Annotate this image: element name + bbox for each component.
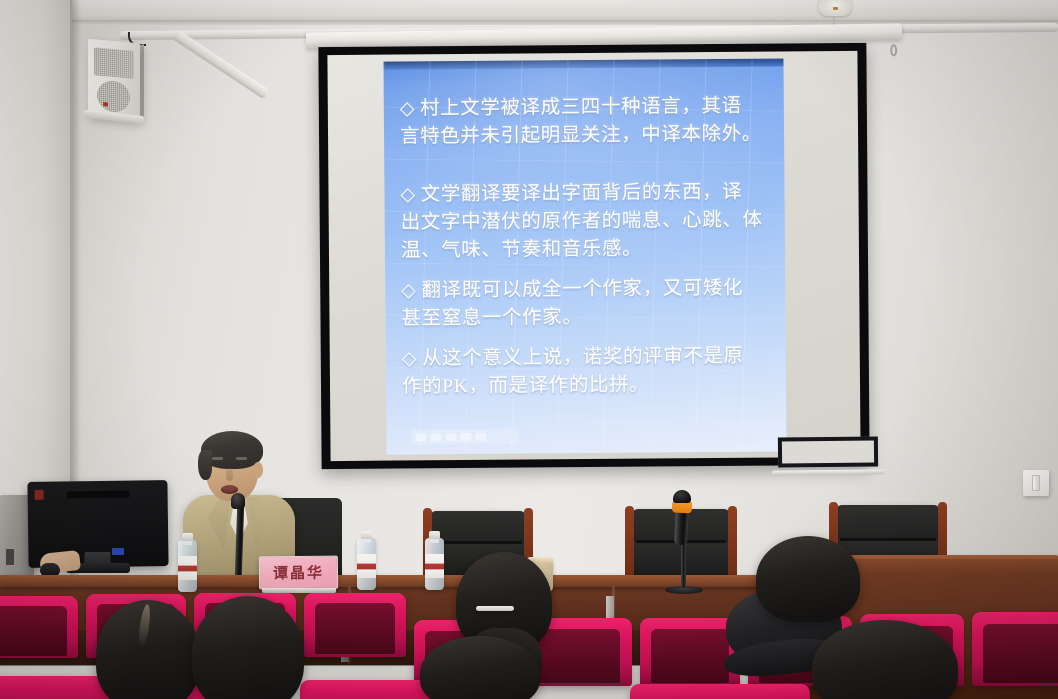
water-bottle-3[interactable] xyxy=(425,538,444,590)
slide-paragraph-1-line-2: 言特色并未引起明显关注，中译本除外。 xyxy=(400,124,762,148)
presenter-eyebrow-left xyxy=(212,457,223,460)
monitor-vent-icon xyxy=(67,491,130,499)
slide-paragraph-1: ◇村上文学被译成三四十种语言，其语 言特色并未引起明显关注，中译本除外。 xyxy=(400,93,766,152)
slide-paragraph-1-line-1: 村上文学被译成三四十种语言，其语 xyxy=(420,96,742,120)
slide-paragraph-2-line-3: 温、气味、节奏和音乐感。 xyxy=(401,239,642,262)
bottle-cap-icon xyxy=(182,533,193,541)
presenter-eyebrow-right xyxy=(236,457,247,460)
presenter-eye-left xyxy=(213,462,222,466)
slide-paragraph-4-line-1: 从这个意义上说，诺奖的评审不是原 xyxy=(422,346,744,370)
ceiling xyxy=(0,0,1058,22)
bottle-label xyxy=(357,554,376,578)
conduit-hook-icon xyxy=(890,44,897,56)
bottle-cap-icon xyxy=(361,531,372,539)
seat-cushion xyxy=(983,624,1058,683)
speaker-led-icon xyxy=(103,102,108,106)
wall-light-switch[interactable] xyxy=(1023,470,1049,496)
bottle-label xyxy=(425,554,444,578)
speaker-name-plate: 谭晶华 xyxy=(259,556,338,590)
slide-bullet-icon-2: ◇ xyxy=(400,184,420,205)
projector-screen-surface: ◇村上文学被译成三四十种语言，其语 言特色并未引起明显关注，中译本除外。 ◇文学… xyxy=(327,51,860,461)
presenter-hair-side xyxy=(198,450,212,480)
presenter-nose xyxy=(226,468,233,481)
slide-paragraph-3-line-1: 翻译既可以成全一个作家，又可矮化 xyxy=(421,278,743,302)
toolbar-menu-icon[interactable] xyxy=(445,433,456,441)
slide-paragraph-2-line-2: 出文字中潜伏的原作者的喘息、心跳、体 xyxy=(401,210,763,234)
slide-bullet-icon-1: ◇ xyxy=(400,98,420,119)
projector-screen-frame: ◇村上文学被译成三四十种语言，其语 言特色并未引起明显关注，中译本除外。 ◇文学… xyxy=(318,43,869,469)
slide-paragraph-3: ◇翻译既可以成全一个作家，又可矮化 甚至窒息一个作家。 xyxy=(401,275,767,334)
slide-bullet-icon-3: ◇ xyxy=(401,280,421,301)
audience-seat-r1-10[interactable] xyxy=(972,612,1058,686)
slide-paragraph-3-line-2: 甚至窒息一个作家。 xyxy=(401,307,582,329)
toolbar-prev-icon[interactable] xyxy=(415,433,426,441)
presenter-eye-right xyxy=(237,462,246,466)
speaker-name-text: 谭晶华 xyxy=(273,562,324,583)
audience-seat-r1-4[interactable] xyxy=(304,593,406,657)
audience-head-behind-cap xyxy=(756,536,860,622)
seat-cushion xyxy=(315,603,395,654)
slide-paragraph-4-line-2: 作的PK，而是译作的比拼。 xyxy=(402,375,649,398)
presentation-toolbar-overlay[interactable] xyxy=(410,429,518,445)
wall-mounted-frame xyxy=(778,436,878,467)
speaker-woofer-grill-icon xyxy=(97,80,130,114)
toolbar-next-icon[interactable] xyxy=(460,432,471,440)
audience-head-1 xyxy=(96,600,200,699)
chair-arm-right xyxy=(728,506,737,580)
audience-seat-r1-7[interactable] xyxy=(640,618,740,686)
chair-arm-left xyxy=(625,506,634,580)
table-microphone-head-icon[interactable] xyxy=(673,490,691,503)
pc-tower-drive-slot-icon xyxy=(6,549,14,565)
presenter-microphone-head-icon[interactable] xyxy=(231,493,245,509)
wall-speaker xyxy=(88,39,140,122)
lecture-hall-scene: ◇村上文学被译成三四十种语言，其语 言特色并未引起明显关注，中译本除外。 ◇文学… xyxy=(0,0,1058,699)
smoke-detector-led-icon xyxy=(833,7,838,10)
toolbar-pen-icon[interactable] xyxy=(430,433,441,441)
bottle-cap-icon xyxy=(429,531,440,539)
water-bottle-1[interactable] xyxy=(178,540,197,592)
bottle-label xyxy=(178,556,197,580)
water-bottle-2[interactable] xyxy=(357,538,376,590)
slide-content: ◇村上文学被译成三四十种语言，其语 言特色并未引起明显关注，中译本除外。 ◇文学… xyxy=(383,59,786,402)
speaker-tweeter-grill-icon xyxy=(94,47,134,78)
slide-paragraph-2: ◇文学翻译要译出字面背后的东西，译 出文字中潜伏的原作者的喘息、心跳、体 温、气… xyxy=(400,179,767,266)
slide-paragraph-4: ◇从这个意义上说，诺奖的评审不是原 作的PK，而是译作的比拼。 xyxy=(402,343,768,402)
audience-seat-front-4[interactable] xyxy=(630,684,810,699)
hair-clip xyxy=(476,606,514,611)
toolbar-more-icon[interactable] xyxy=(475,432,486,440)
audience-seat-r1-1[interactable] xyxy=(0,596,78,658)
seat-cushion xyxy=(0,606,67,656)
slide-bullet-icon-4: ◇ xyxy=(402,348,422,369)
presenter-ear xyxy=(253,462,263,478)
seat-cushion xyxy=(651,629,729,683)
light-switch-rocker-icon[interactable] xyxy=(1032,475,1040,491)
monitor-vga-port-icon xyxy=(112,548,124,555)
seat-cushion xyxy=(538,629,621,683)
monitor-brand-logo-icon xyxy=(35,490,44,500)
projected-slide: ◇村上文学被译成三四十种语言，其语 言特色并未引起明显关注，中译本除外。 ◇文学… xyxy=(383,59,786,455)
ceiling-smoke-detector xyxy=(818,0,852,16)
slide-paragraph-2-line-1: 文学翻译要译出字面背后的东西，译 xyxy=(421,182,743,206)
